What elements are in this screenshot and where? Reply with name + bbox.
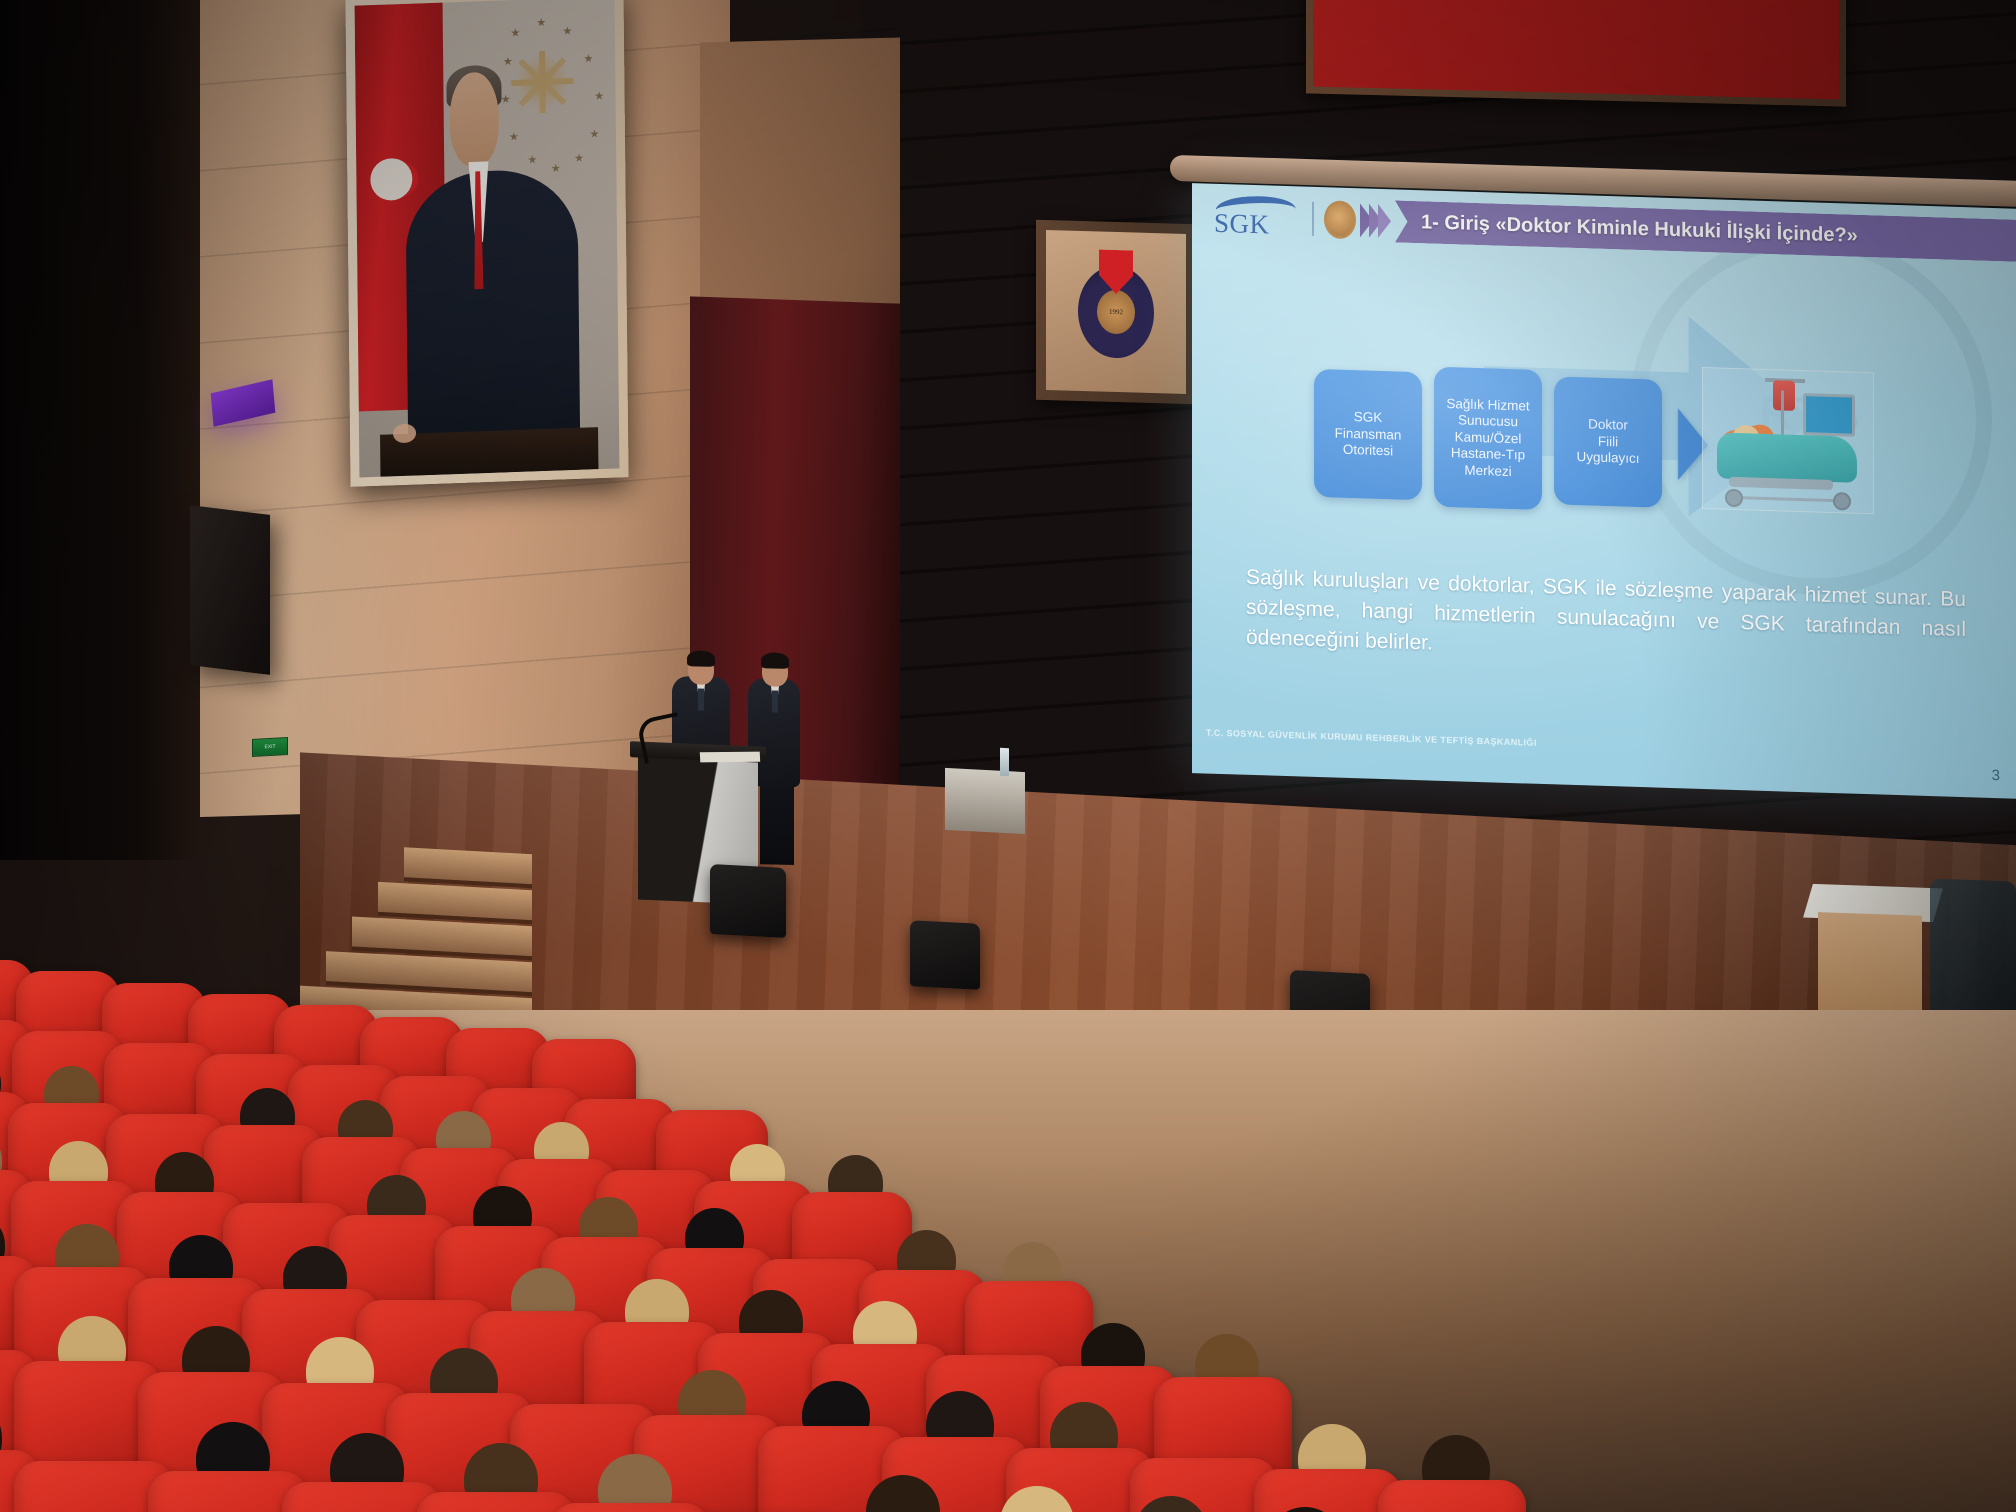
stage-step xyxy=(404,847,532,888)
vital-monitor-icon xyxy=(1803,393,1855,437)
flow-diagram: SGKFinansmanOtoritesi Sağlık HizmetSunuc… xyxy=(1314,363,1708,515)
presidential-portrait-frame xyxy=(345,0,628,487)
presenter-hair xyxy=(761,652,789,669)
bed-wheel-icon xyxy=(1833,492,1851,511)
red-banner-face xyxy=(1313,0,1839,99)
audience-seating xyxy=(0,980,2016,1512)
plaque-face: 1992 xyxy=(1046,230,1186,394)
flow-box-saglik-hizmet: Sağlık HizmetSunucusuKamu/ÖzelHastane-Tı… xyxy=(1434,367,1542,510)
portrait-face xyxy=(449,71,499,167)
auditorium-seat[interactable] xyxy=(550,1503,710,1512)
auditorium-seat[interactable] xyxy=(1378,1480,1526,1512)
flow-box-sgk: SGKFinansmanOtoritesi xyxy=(1314,369,1422,500)
auditorium-photo: 1992 EXIT RTB SGK 1- Giriş «Doktor K xyxy=(0,0,2016,1512)
bed-frame xyxy=(1727,496,1837,502)
presenter-necktie xyxy=(772,691,778,713)
slide-title: 1- Giriş «Doktor Kiminle Hukuki İlişki İ… xyxy=(1421,211,1858,248)
lectern-papers xyxy=(700,752,760,763)
bed-wheel-icon xyxy=(1725,489,1743,508)
wall-left-dark xyxy=(0,0,200,860)
slide-footer: T.C. SOSYAL GÜVENLİK KURUMU REHBERLİK VE… xyxy=(1206,728,1537,748)
red-wall-banner xyxy=(1306,0,1846,107)
portrait-image xyxy=(355,0,620,477)
slide-page-number: 3 xyxy=(1992,767,2000,784)
logo-divider xyxy=(1312,202,1314,236)
presidential-seal-star-icon xyxy=(511,50,574,114)
sgk-logo: SGK xyxy=(1210,193,1302,242)
water-bottle xyxy=(1000,748,1009,776)
university-crest-icon: 1992 xyxy=(1078,265,1154,359)
stage-small-table xyxy=(945,768,1025,834)
hospital-bed-icon xyxy=(1717,432,1857,482)
presenter-hair xyxy=(687,650,715,667)
chevron-right-icon xyxy=(1378,204,1391,238)
gold-seal-icon xyxy=(1324,200,1356,239)
crest-year: 1992 xyxy=(1097,289,1135,334)
slide-title-bar: 1- Giriş «Doktor Kiminle Hukuki İlişki İ… xyxy=(1395,200,2016,261)
hospital-bed-patient-illustration xyxy=(1702,367,1874,514)
auditorium-seat[interactable] xyxy=(416,1492,576,1512)
floor-monitor-speaker xyxy=(710,864,786,938)
university-emblem-plaque: 1992 xyxy=(1036,220,1196,404)
iv-bag-icon xyxy=(1773,380,1795,411)
flow-box-doktor: DoktorFiiliUygulayıcı xyxy=(1554,376,1662,507)
projection-screen: RTB SGK 1- Giriş «Doktor Kiminle Hukuki … xyxy=(1192,183,2016,799)
presenter-necktie xyxy=(698,689,704,711)
bed-base xyxy=(1729,477,1833,490)
chevron-group xyxy=(1364,203,1391,238)
stage-step xyxy=(378,882,532,924)
sgk-logo-text: SGK xyxy=(1214,208,1270,241)
wall-mounted-speaker xyxy=(190,505,270,675)
exit-sign: EXIT xyxy=(252,737,288,757)
